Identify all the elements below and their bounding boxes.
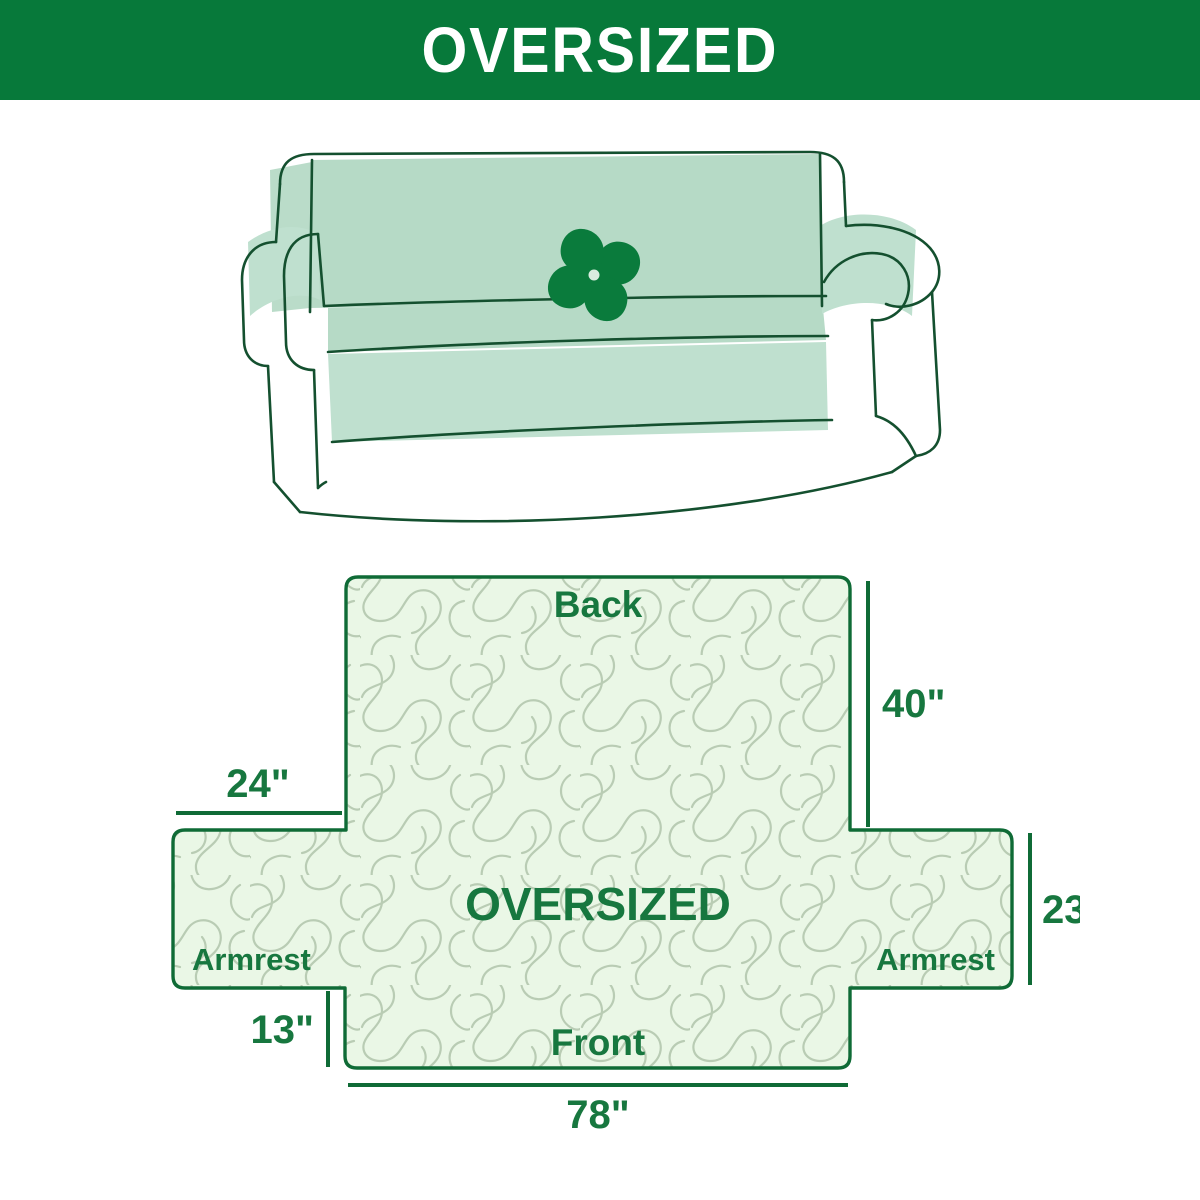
sofa-skirt-left [318, 482, 326, 488]
sofa-drawing [240, 130, 980, 530]
dimension-value-armrest-height: 23" [1042, 888, 1080, 932]
dimension-value-front-drop: 13" [251, 1008, 314, 1052]
label-armrest-right: Armrest [876, 942, 995, 977]
cover-layout-diagram: Back OVERSIZED Armrest Armrest Front 40"… [140, 545, 1080, 1165]
sofa-base-left [274, 482, 300, 512]
page-title: OVERSIZED [422, 18, 779, 82]
dimension-value-back-height: 40" [882, 682, 945, 726]
label-armrest-left: Armrest [192, 942, 311, 977]
dimension-diagram: Back OVERSIZED Armrest Armrest Front 40"… [140, 545, 1080, 1165]
sofa-left-arm-front-inner [268, 366, 274, 482]
fan-hub [589, 270, 600, 281]
sofa-illustration [240, 130, 980, 530]
label-front: Front [551, 1022, 646, 1063]
label-back: Back [554, 584, 643, 625]
sofa-right-arm-side [916, 292, 940, 456]
label-oversized: OVERSIZED [465, 878, 731, 930]
cover-cross-shape [173, 577, 1012, 1068]
sofa-base-right [892, 456, 916, 472]
dimension-value-armrest-width: 24" [226, 762, 289, 806]
sofa-right-arm-inner [872, 320, 876, 416]
sofa-seat-right-side [876, 416, 916, 456]
dimension-value-total-width: 78" [566, 1093, 629, 1137]
sofa-base-bottom [300, 472, 892, 521]
header-banner: OVERSIZED [0, 0, 1200, 100]
sofa-left-arm-front [314, 370, 318, 488]
